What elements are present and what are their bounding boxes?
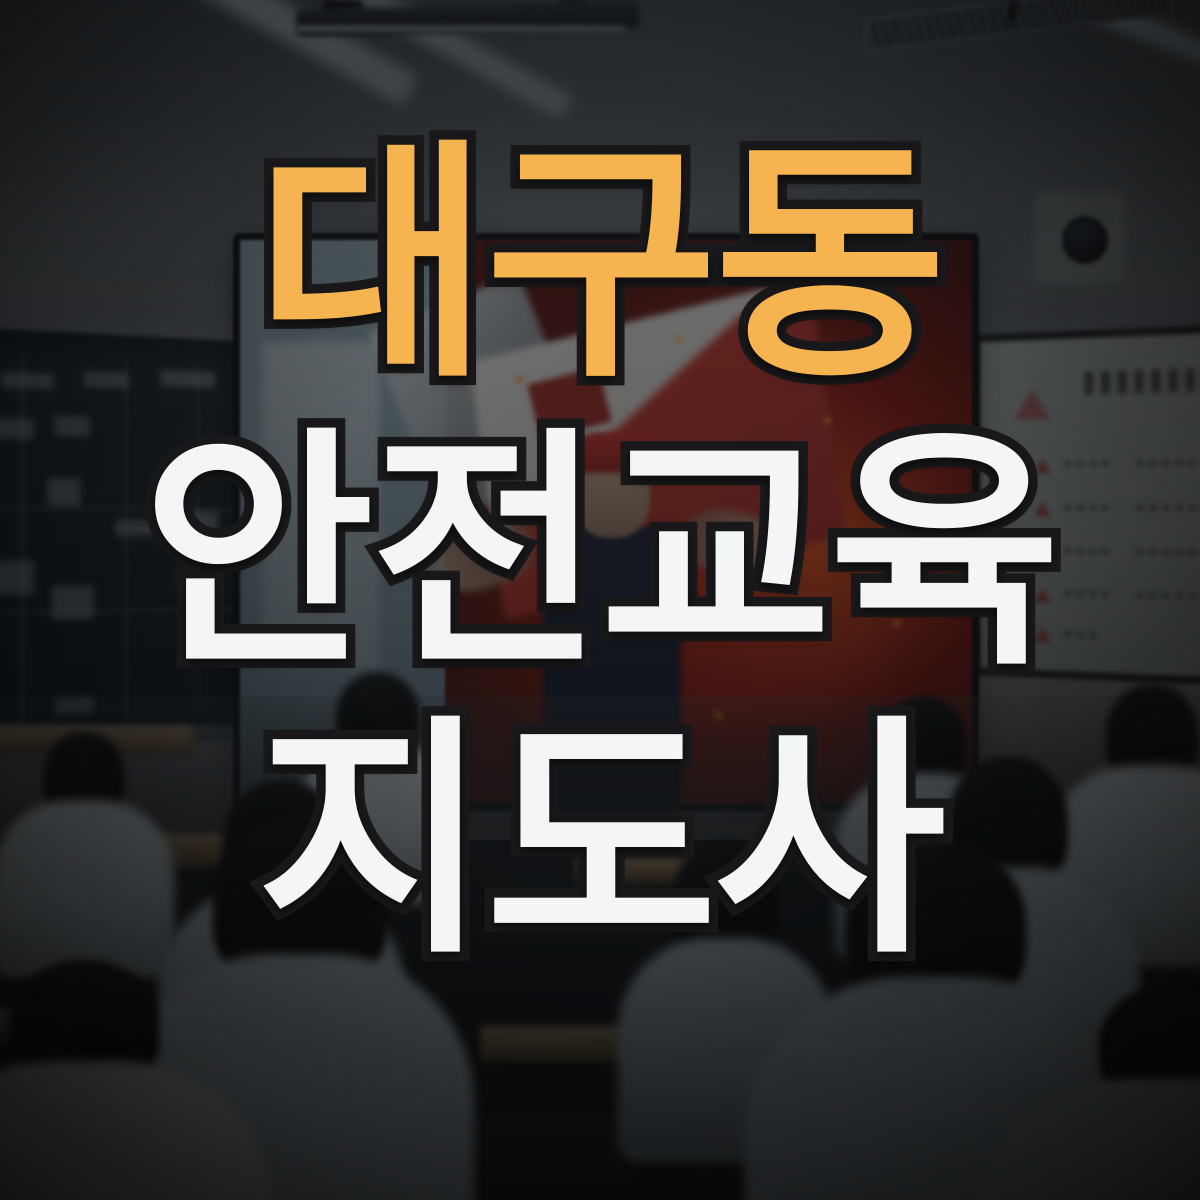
poster-canvas: 대구동 안전교육 지도사	[0, 0, 1200, 1200]
photo-vignette	[0, 0, 1200, 1200]
classroom-background-photo	[0, 0, 1200, 1200]
